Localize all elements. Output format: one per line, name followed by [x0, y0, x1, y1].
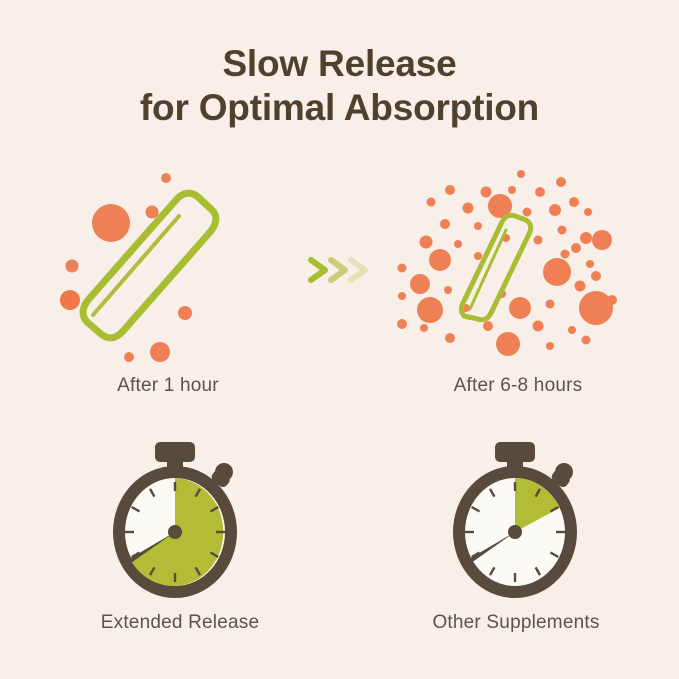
- chevron-3-icon: [351, 260, 365, 280]
- stopwatch-extended-release: [85, 440, 275, 600]
- page-title: Slow Release for Optimal Absorption: [0, 42, 679, 130]
- chevron-2-icon: [331, 260, 345, 280]
- dissolving-tablet-svg: [390, 168, 650, 368]
- stopwatch-icon: [425, 440, 615, 600]
- chevron-1-icon: [311, 260, 325, 280]
- pill-illustration-after-6-8-hours: [390, 168, 650, 368]
- title-line-2: for Optimal Absorption: [0, 86, 679, 130]
- chevron-group: [305, 252, 375, 288]
- caption-other-supplements: Other Supplements: [366, 612, 666, 634]
- title-line-1: Slow Release: [0, 42, 679, 86]
- stopwatch-hand-pivot: [168, 525, 182, 539]
- stopwatch-top-button: [155, 442, 195, 462]
- triple-chevron-right-icon: [305, 252, 375, 288]
- stopwatch-icon: [85, 440, 275, 600]
- stopwatch-hand-pivot: [508, 525, 522, 539]
- orange-particles-dense: [397, 170, 617, 356]
- stopwatch-other-supplements: [425, 440, 615, 600]
- intact-tablet-svg: [48, 168, 308, 368]
- stopwatch-top-button: [495, 442, 535, 462]
- infographic-poster: Slow Release for Optimal Absorption Afte: [0, 0, 679, 679]
- caption-after-6-8-hours: After 6-8 hours: [368, 375, 668, 397]
- caption-after-1-hour: After 1 hour: [18, 375, 318, 397]
- pill-illustration-after-1-hour: [48, 168, 308, 368]
- caption-extended-release: Extended Release: [30, 612, 330, 634]
